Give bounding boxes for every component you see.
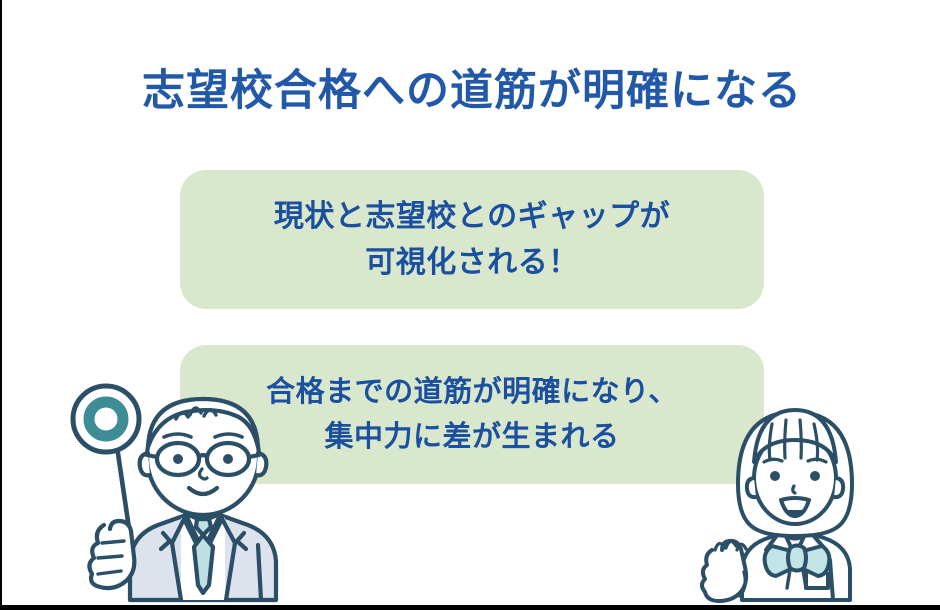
glasses-bridge [199, 455, 207, 457]
man-with-circle-sign-illustration [68, 385, 298, 600]
callout-line: 合格までの道筋が明確になり、 [266, 370, 678, 414]
bang-strand [800, 420, 801, 458]
necktie [194, 535, 213, 593]
callout-box-gap: 現状と志望校とのギャップが 可視化される！ [180, 170, 764, 309]
ribbon-knot [788, 546, 806, 571]
hand [89, 521, 134, 588]
sleeve-seam [258, 545, 261, 600]
callout-line: 集中力に差が生まれる [266, 415, 678, 459]
bang-strand [785, 420, 786, 458]
glasses-temple-left [147, 455, 157, 457]
finger-line [102, 541, 124, 543]
eye-right [810, 471, 820, 481]
eye-right [223, 454, 233, 464]
slide-root: 志望校合格への道筋が明確になる 現状と志望校とのギャップが 可視化される！ 合格… [0, 0, 940, 610]
callout-line: 可視化される！ [274, 240, 670, 286]
eye-left [770, 471, 780, 481]
finger-line [98, 556, 122, 558]
circle-sign-outer [73, 386, 139, 452]
callout-text-gap: 現状と志望校とのギャップが 可視化される！ [274, 194, 670, 285]
callout-line: 現状と志望校とのギャップが [274, 194, 670, 240]
schoolgirl-illustration [702, 400, 877, 600]
eye-left [173, 454, 183, 464]
mouth-inner [786, 510, 804, 513]
page-title: 志望校合格への道筋が明確になる [2, 66, 940, 118]
glasses-temple-right [249, 455, 259, 457]
fist [702, 541, 746, 601]
callout-text-path: 合格までの道筋が明確になり、 集中力に差が生まれる [266, 370, 678, 458]
